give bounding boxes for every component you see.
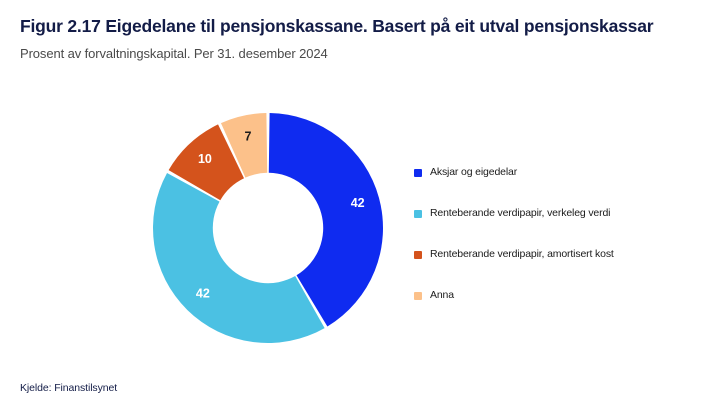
legend-item-label: Renteberande verdipapir, verkeleg verdi <box>430 207 610 220</box>
legend-item[interactable]: Renteberande verdipapir, verkeleg verdi <box>414 193 714 234</box>
donut-slice-value-label: 10 <box>198 152 212 166</box>
donut-chart-plot-area: 4242107 <box>0 96 405 361</box>
chart-legend: Aksjar og eigedelarRenteberande verdipap… <box>414 152 714 316</box>
donut-slice-value-label: 7 <box>244 130 251 144</box>
legend-swatch-icon <box>414 210 422 218</box>
legend-item[interactable]: Aksjar og eigedelar <box>414 152 714 193</box>
chart-figure: Figur 2.17 Eigedelane til pensjonskassan… <box>0 0 722 410</box>
donut-slice-value-label: 42 <box>196 286 210 300</box>
chart-subtitle: Prosent av forvaltningskapital. Per 31. … <box>20 45 660 62</box>
legend-item-label: Renteberande verdipapir, amortisert kost <box>430 248 614 261</box>
legend-item[interactable]: Anna <box>414 275 714 316</box>
legend-item[interactable]: Renteberande verdipapir, amortisert kost <box>414 234 714 275</box>
legend-item-label: Anna <box>430 289 454 302</box>
donut-slice-value-label: 42 <box>351 196 365 210</box>
donut-chart-svg: 4242107 <box>0 96 405 361</box>
donut-slice[interactable] <box>153 173 325 343</box>
chart-title: Figur 2.17 Eigedelane til pensjonskassan… <box>20 14 660 39</box>
legend-swatch-icon <box>414 292 422 300</box>
legend-swatch-icon <box>414 251 422 259</box>
legend-item-label: Aksjar og eigedelar <box>430 166 517 179</box>
chart-header: Figur 2.17 Eigedelane til pensjonskassan… <box>20 14 660 62</box>
source-note: Kjelde: Finanstilsynet <box>20 381 117 395</box>
legend-swatch-icon <box>414 169 422 177</box>
